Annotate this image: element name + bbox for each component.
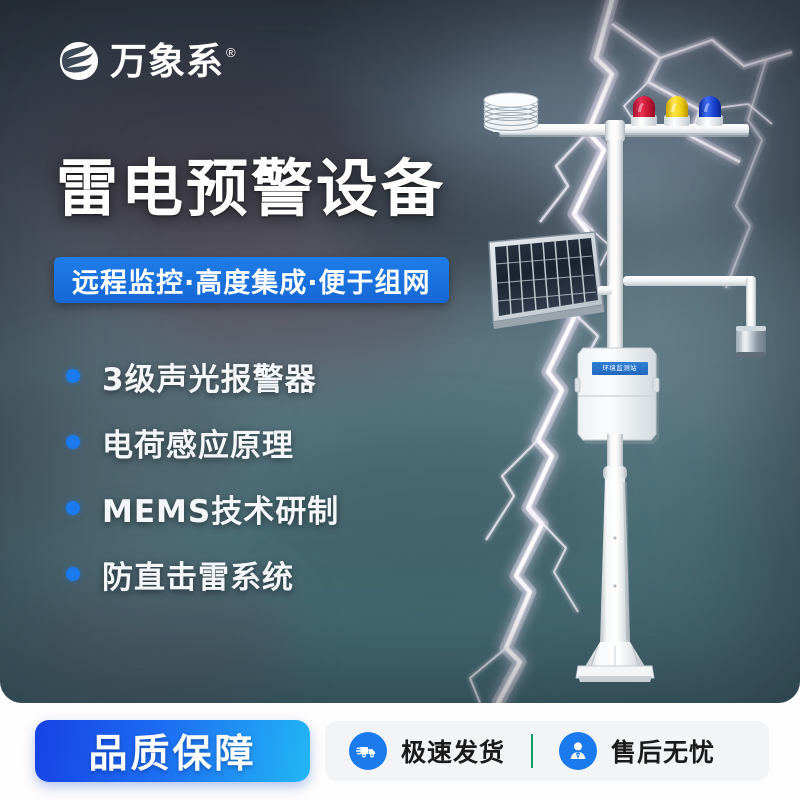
service-label-shipping: 极速发货 (401, 733, 505, 769)
pole-lower-collar (603, 466, 627, 480)
page-title: 雷电预警设备 (56, 155, 446, 223)
quality-badge: 品质保障 (35, 720, 310, 782)
list-item: MEMS技术研制 (66, 477, 466, 539)
red-alarm-light (631, 96, 657, 126)
service-divider (531, 734, 533, 768)
list-item: 电荷感应原理 (66, 411, 466, 473)
bullet-dot-icon (66, 501, 80, 515)
quality-badge-label: 品质保障 (88, 723, 256, 779)
brand-wordmark: 万象系 ® (110, 43, 236, 80)
bullet-dot-icon (66, 435, 80, 449)
bullet-dot-icon (66, 369, 80, 383)
bottom-bar: 品质保障 (0, 703, 800, 800)
service-card: 极速发货 售后无忧 (325, 721, 769, 781)
subtitle-text: 远程监控·高度集成·便于组网 (72, 261, 431, 300)
service-label-aftersales: 售后无忧 (611, 733, 715, 769)
feature-list: 3级声光报警器 电荷感应原理 MEMS技术研制 防直击雷系统 (66, 345, 466, 609)
subtitle-banner: 远程监控·高度集成·便于组网 (54, 257, 449, 303)
list-item: 防直击雷系统 (66, 543, 466, 605)
solar-panel (489, 232, 612, 329)
pole-middle (607, 434, 623, 470)
swirl-sphere-logo-icon (58, 40, 100, 82)
feature-label: 防直击雷系统 (102, 552, 294, 597)
pole-top-collar (605, 120, 625, 142)
delivery-truck-icon (349, 732, 387, 770)
radiation-shield-sensor (484, 93, 538, 133)
service-item-aftersales: 售后无忧 (559, 721, 715, 781)
feature-label: 3级声光报警器 (102, 354, 317, 399)
list-item: 3级声光报警器 (66, 345, 466, 407)
bullet-dot-icon (66, 567, 80, 581)
controller-box-label: 环境监测站 (592, 362, 648, 375)
registered-mark: ® (226, 45, 236, 60)
controller-box-label-text: 环境监测站 (603, 365, 638, 371)
base-plate (576, 642, 654, 682)
yellow-alarm-light (664, 96, 690, 126)
service-item-shipping: 极速发货 (349, 721, 505, 781)
product-poster: 万象系 ® 雷电预警设备 远程监控·高度集成·便于组网 3级声光报警器 电荷感应… (0, 0, 800, 800)
support-agent-icon (559, 732, 597, 770)
lightning-sensor (736, 326, 766, 358)
blue-alarm-light (697, 96, 723, 126)
feature-label: MEMS技术研制 (102, 486, 339, 531)
brand-name: 万象系 (110, 43, 224, 80)
product-image (455, 90, 800, 700)
mounting-pole-lower (600, 478, 630, 642)
lightning-sensor-arm (623, 276, 756, 334)
brand-logo: 万象系 ® (58, 40, 236, 82)
feature-label: 电荷感应原理 (102, 420, 294, 465)
